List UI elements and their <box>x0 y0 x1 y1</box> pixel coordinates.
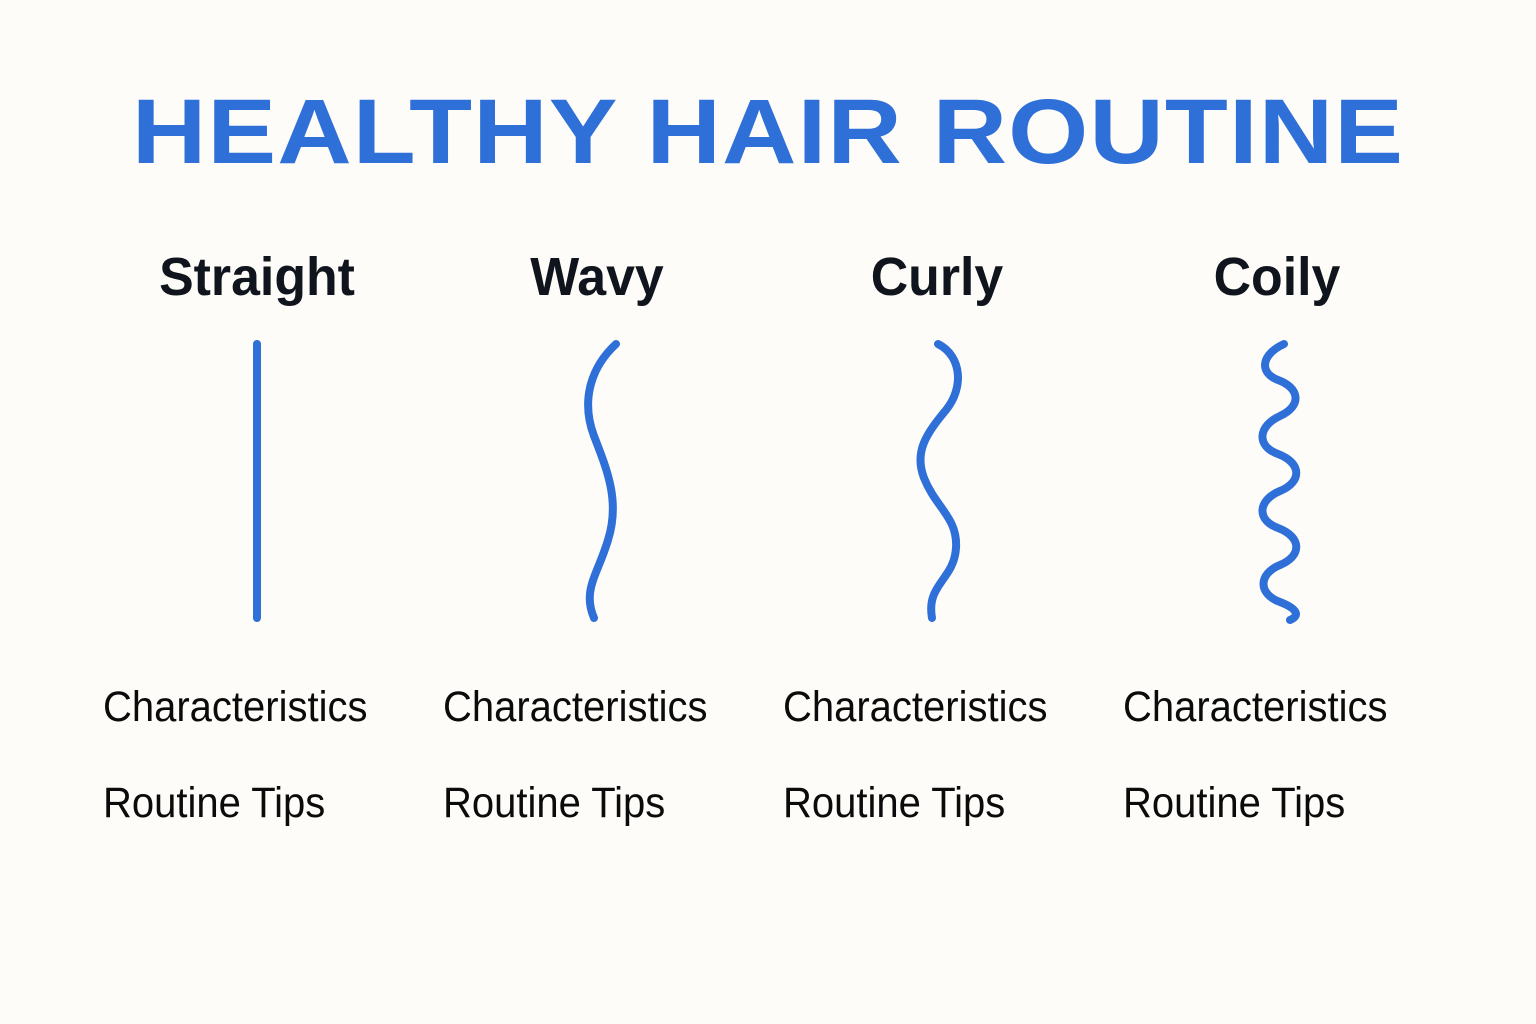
strand-illustration-wrap <box>1114 336 1440 636</box>
column-labels: Characteristics Routine Tips <box>783 682 1067 828</box>
healthy-hair-routine-infographic: HEALTHY HAIR ROUTINE Straight Characteri… <box>0 0 1536 1024</box>
wavy-hair-strand-icon <box>542 336 652 626</box>
strand-illustration-wrap <box>774 336 1100 636</box>
strand-illustration-wrap <box>434 336 760 636</box>
label-routine-tips: Routine Tips <box>443 778 665 828</box>
label-characteristics: Characteristics <box>443 682 707 732</box>
column-heading: Straight <box>101 246 414 308</box>
hair-type-columns: Straight Characteristics Routine Tips Wa… <box>0 246 1536 866</box>
curly-hair-strand-icon <box>882 336 992 626</box>
column-heading: Curly <box>781 246 1094 308</box>
label-routine-tips: Routine Tips <box>103 778 325 828</box>
column-labels: Characteristics Routine Tips <box>443 682 727 828</box>
coily-hair-strand-icon <box>1222 336 1332 626</box>
page-title: HEALTHY HAIR ROUTINE <box>0 84 1536 180</box>
label-routine-tips: Routine Tips <box>783 778 1005 828</box>
hair-type-column-wavy: Wavy Characteristics Routine Tips <box>434 246 774 866</box>
strand-illustration-wrap <box>94 336 420 636</box>
hair-type-column-curly: Curly Characteristics Routine Tips <box>774 246 1114 866</box>
label-characteristics: Characteristics <box>103 682 367 732</box>
column-heading: Coily <box>1121 246 1434 308</box>
column-labels: Characteristics Routine Tips <box>103 682 387 828</box>
column-labels: Characteristics Routine Tips <box>1123 682 1407 828</box>
straight-hair-strand-icon <box>202 336 312 626</box>
hair-type-column-coily: Coily Characteristics Routine Tips <box>1114 246 1454 866</box>
label-characteristics: Characteristics <box>783 682 1047 732</box>
column-heading: Wavy <box>441 246 754 308</box>
label-characteristics: Characteristics <box>1123 682 1387 732</box>
label-routine-tips: Routine Tips <box>1123 778 1345 828</box>
hair-type-column-straight: Straight Characteristics Routine Tips <box>94 246 434 866</box>
